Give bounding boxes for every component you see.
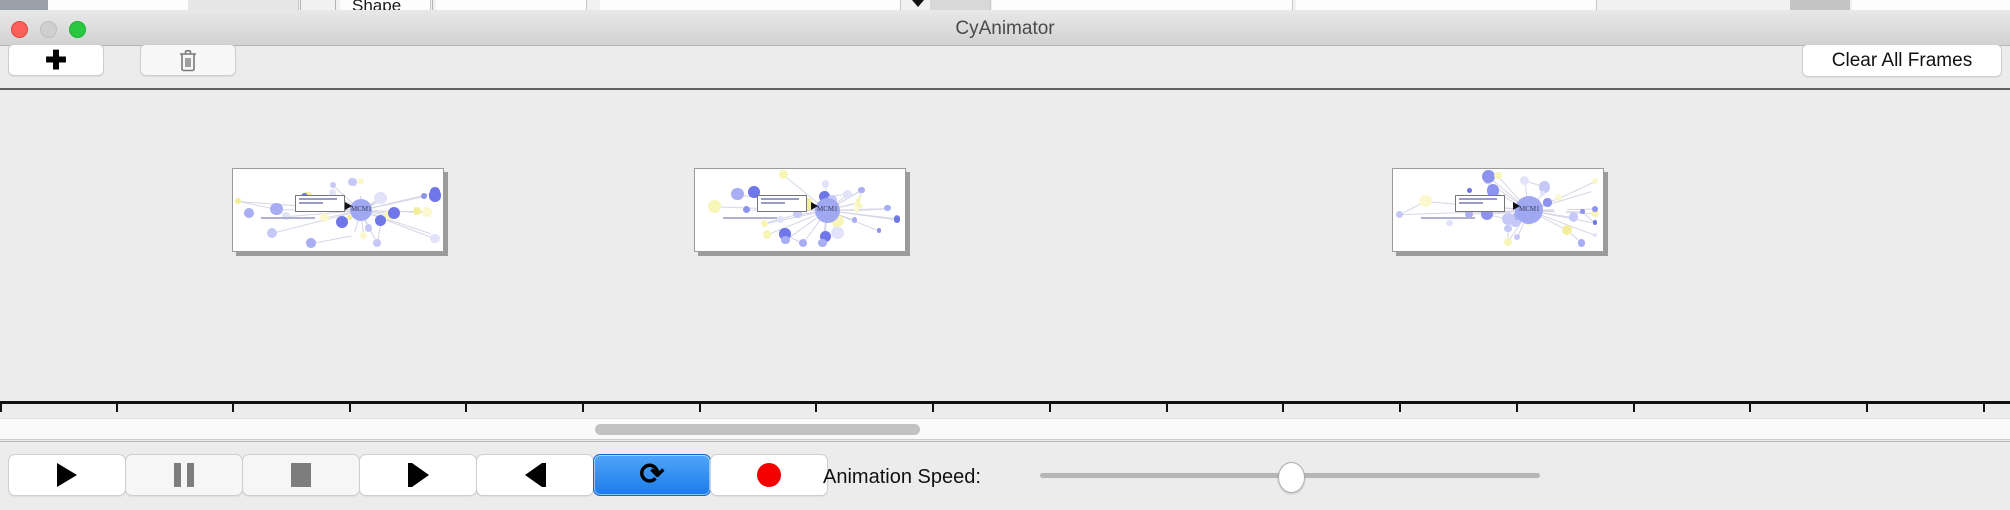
network-hub-label: MCM1 xyxy=(351,205,372,213)
network-node xyxy=(743,206,750,213)
network-node xyxy=(1593,233,1598,238)
network-node xyxy=(413,207,422,216)
clear-all-frames-label: Clear All Frames xyxy=(1832,50,1972,72)
frame-annotation-box xyxy=(295,195,345,212)
frame-network-thumbnail: MCM1 xyxy=(233,169,443,251)
network-node xyxy=(781,236,790,245)
axis-tick xyxy=(932,404,934,412)
timeline-frame[interactable]: MCM1 xyxy=(694,168,906,252)
frame-annotation-text xyxy=(1421,217,1475,219)
animation-speed-label: Animation Speed: xyxy=(823,466,981,489)
network-node xyxy=(799,239,808,248)
network-hub-label: MCM1 xyxy=(1519,205,1540,213)
timeline-panel[interactable]: MCM1MCM1MCM1 2131415161718 Seconds xyxy=(0,90,2010,412)
network-node xyxy=(422,207,431,216)
network-node xyxy=(1554,203,1567,216)
network-node xyxy=(1482,170,1495,183)
network-node xyxy=(235,198,240,203)
network-node xyxy=(843,190,852,199)
play-button[interactable] xyxy=(8,454,126,496)
network-node xyxy=(373,239,381,247)
record-icon xyxy=(757,463,781,487)
network-node xyxy=(354,184,366,196)
network-node xyxy=(877,228,882,233)
network-node xyxy=(1504,238,1512,246)
axis-tick xyxy=(349,404,351,412)
network-node xyxy=(267,228,277,238)
frame-annotation-arrow xyxy=(1513,202,1520,210)
axis-tick xyxy=(1166,404,1168,412)
pause-icon xyxy=(174,463,194,487)
network-node xyxy=(1569,212,1579,222)
network-node xyxy=(854,207,860,213)
cyanimator-window: Shape CyAnimator ✚ Clear All Frames MCM1… xyxy=(0,0,2010,510)
network-node xyxy=(1578,239,1585,246)
axis-tick xyxy=(815,404,817,412)
timeline-frame[interactable]: MCM1 xyxy=(232,168,444,252)
plus-icon: ✚ xyxy=(45,47,67,73)
axis-tick xyxy=(0,404,2,412)
network-node xyxy=(388,207,400,219)
loop-button[interactable]: ⟳ xyxy=(593,454,711,496)
playback-controls: ⟳ Animation Speed: xyxy=(0,441,2010,510)
axis-tick xyxy=(465,404,467,412)
network-node xyxy=(1396,211,1403,218)
network-node xyxy=(858,187,865,194)
axis-tick xyxy=(1866,404,1868,412)
stop-button[interactable] xyxy=(242,454,360,496)
timeline-scrollbar[interactable] xyxy=(0,418,2010,440)
axis-tick xyxy=(1983,404,1985,412)
network-node xyxy=(244,208,254,218)
add-frame-button[interactable]: ✚ xyxy=(8,44,104,76)
axis-tick xyxy=(1282,404,1284,412)
network-node xyxy=(1543,198,1551,206)
network-node xyxy=(731,188,743,200)
skip-forward-button[interactable] xyxy=(476,454,594,496)
network-node xyxy=(779,170,788,179)
network-node xyxy=(708,200,721,213)
frame-network-thumbnail: MCM1 xyxy=(1393,169,1603,251)
network-node xyxy=(336,216,348,228)
background-desktop-strip: Shape xyxy=(0,0,2010,10)
axis-tick xyxy=(699,404,701,412)
stop-icon xyxy=(291,463,311,487)
network-node xyxy=(430,187,439,196)
network-node xyxy=(306,238,316,248)
network-node xyxy=(1446,220,1452,226)
network-node xyxy=(860,196,870,206)
frame-network-thumbnail: MCM1 xyxy=(695,169,905,251)
trash-icon xyxy=(177,48,199,72)
network-node xyxy=(1591,186,1598,193)
network-node xyxy=(1467,188,1472,193)
delete-frame-button[interactable] xyxy=(140,44,236,76)
axis-tick xyxy=(232,404,234,412)
network-node xyxy=(1592,206,1598,212)
network-node xyxy=(1494,172,1502,180)
skip-forward-icon xyxy=(525,463,546,487)
network-edge xyxy=(311,235,354,244)
network-node xyxy=(831,227,843,239)
toolbar xyxy=(0,46,2010,88)
animation-speed-slider[interactable] xyxy=(1040,454,1540,496)
frame-annotation-text xyxy=(723,217,777,219)
frame-annotation-box xyxy=(1455,195,1505,212)
network-node xyxy=(1540,191,1545,196)
timeline-axis xyxy=(0,401,2010,404)
network-node xyxy=(894,216,900,222)
network-node xyxy=(320,213,329,222)
network-node xyxy=(852,217,858,223)
axis-tick xyxy=(1399,404,1401,412)
axis-tick xyxy=(1516,404,1518,412)
network-node xyxy=(360,232,366,238)
frame-annotation-arrow xyxy=(345,202,352,210)
network-node xyxy=(777,216,784,223)
network-node xyxy=(374,192,386,204)
timeline-frame[interactable]: MCM1 xyxy=(1392,168,1604,252)
record-button[interactable] xyxy=(710,454,828,496)
slider-knob[interactable] xyxy=(1278,462,1305,493)
network-node xyxy=(818,239,827,248)
network-node xyxy=(351,232,356,237)
pause-button[interactable] xyxy=(125,454,243,496)
play-icon xyxy=(57,463,77,487)
axis-tick xyxy=(116,404,118,412)
network-node xyxy=(430,234,439,243)
network-node xyxy=(1593,220,1598,225)
axis-tick xyxy=(582,404,584,412)
network-node xyxy=(1592,178,1597,183)
scrollbar-thumb[interactable] xyxy=(595,424,920,435)
network-node xyxy=(270,203,283,216)
frame-annotation-text xyxy=(261,217,315,219)
network-node xyxy=(375,215,386,226)
window-title: CyAnimator xyxy=(0,18,2010,40)
clear-all-frames-button[interactable]: Clear All Frames xyxy=(1802,44,2002,77)
skip-back-icon xyxy=(408,463,429,487)
network-node xyxy=(1580,209,1584,213)
background-window-label: Shape xyxy=(352,0,401,10)
frame-annotation-arrow xyxy=(811,202,818,210)
loop-icon: ⟳ xyxy=(639,460,664,490)
axis-tick xyxy=(1749,404,1751,412)
network-node xyxy=(1514,234,1520,240)
axis-tick xyxy=(1633,404,1635,412)
network-node xyxy=(421,193,428,200)
network-node xyxy=(884,205,890,211)
network-node xyxy=(1504,225,1512,233)
network-hub-label: MCM1 xyxy=(817,205,838,213)
skip-back-button[interactable] xyxy=(359,454,477,496)
network-node xyxy=(822,180,829,187)
frame-annotation-box xyxy=(757,195,807,212)
axis-tick xyxy=(1049,404,1051,412)
network-node xyxy=(761,220,767,226)
network-node xyxy=(763,230,772,239)
title-bar: CyAnimator xyxy=(0,10,2010,46)
network-node xyxy=(1419,195,1432,208)
network-node xyxy=(1520,176,1530,186)
